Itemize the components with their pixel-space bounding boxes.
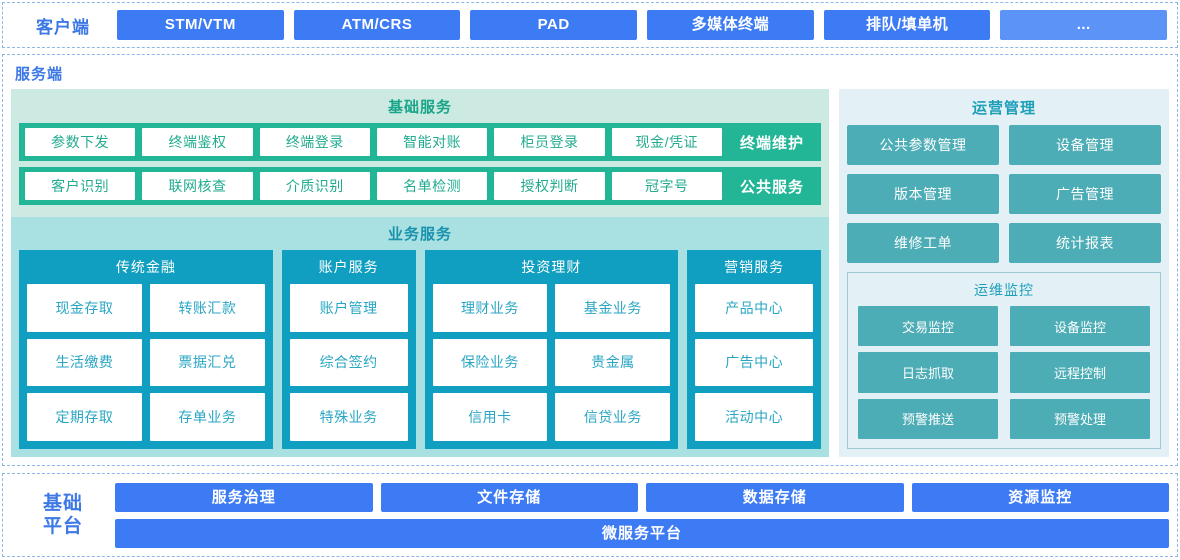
business-chip-3-3[interactable]: 保险业务	[433, 339, 548, 387]
monitor-button-2[interactable]: 设备监控	[1010, 306, 1150, 346]
business-column-3: 投资理财理财业务基金业务保险业务贵金属信用卡信贷业务	[425, 250, 679, 449]
business-chip-3-2[interactable]: 基金业务	[555, 284, 670, 332]
basic-service-band-1: 参数下发终端鉴权终端登录智能对账柜员登录现金/凭证终端维护	[19, 123, 821, 161]
business-chip-4-2[interactable]: 广告中心	[695, 339, 813, 387]
basic-chip-2-1[interactable]: 客户识别	[25, 172, 135, 200]
business-column-grid-2: 账户管理综合签约特殊业务	[290, 284, 408, 441]
monitor-button-1[interactable]: 交易监控	[858, 306, 998, 346]
business-chip-4-1[interactable]: 产品中心	[695, 284, 813, 332]
business-chip-1-4[interactable]: 票据汇兑	[150, 339, 265, 387]
business-column-title-4: 营销服务	[695, 254, 813, 284]
basic-chip-1-5[interactable]: 柜员登录	[494, 128, 604, 156]
business-column-4: 营销服务产品中心广告中心活动中心	[687, 250, 821, 449]
business-chip-2-2[interactable]: 综合签约	[290, 339, 408, 387]
server-section-title: 服务端	[11, 61, 1169, 89]
operations-button-5[interactable]: 维修工单	[847, 223, 999, 263]
business-column-2: 账户服务账户管理综合签约特殊业务	[282, 250, 416, 449]
basic-chip-1-1[interactable]: 参数下发	[25, 128, 135, 156]
platform-button-1[interactable]: 服务治理	[115, 483, 373, 512]
operations-button-2[interactable]: 设备管理	[1009, 125, 1161, 165]
business-chip-3-6[interactable]: 信贷业务	[555, 393, 670, 441]
operations-button-3[interactable]: 版本管理	[847, 174, 999, 214]
business-column-title-2: 账户服务	[290, 254, 408, 284]
business-services-heading: 业务服务	[19, 219, 821, 250]
client-section: 客户端 STM/VTMATM/CRSPAD多媒体终端排队/填单机...	[2, 2, 1178, 48]
monitor-button-grid: 交易监控设备监控日志抓取远程控制预警推送预警处理	[858, 306, 1150, 439]
client-button-2[interactable]: ATM/CRS	[294, 10, 461, 40]
platform-section: 基础 平台 服务治理文件存储数据存储资源监控 微服务平台	[2, 473, 1178, 557]
platform-title-line-2: 平台	[11, 515, 115, 538]
basic-band-tag-1: 终端维护	[729, 132, 815, 153]
basic-chip-1-4[interactable]: 智能对账	[377, 128, 487, 156]
client-section-title: 客户端	[9, 13, 117, 38]
monitor-heading: 运维监控	[858, 277, 1150, 306]
business-column-1: 传统金融现金存取转账汇款生活缴费票据汇兑定期存取存单业务	[19, 250, 273, 449]
client-button-5[interactable]: 排队/填单机	[824, 10, 991, 40]
business-chip-1-6[interactable]: 存单业务	[150, 393, 265, 441]
basic-services-heading: 基础服务	[19, 93, 821, 123]
platform-button-2[interactable]: 文件存储	[381, 483, 639, 512]
business-column-title-3: 投资理财	[433, 254, 671, 284]
architecture-diagram: 客户端 STM/VTMATM/CRSPAD多媒体终端排队/填单机... 服务端 …	[0, 0, 1180, 560]
operations-button-4[interactable]: 广告管理	[1009, 174, 1161, 214]
business-column-grid-1: 现金存取转账汇款生活缴费票据汇兑定期存取存单业务	[27, 284, 265, 441]
client-button-3[interactable]: PAD	[470, 10, 637, 40]
monitor-button-5[interactable]: 预警推送	[858, 399, 998, 439]
business-chip-2-3[interactable]: 特殊业务	[290, 393, 408, 441]
client-button-6[interactable]: ...	[1000, 10, 1167, 40]
platform-button-3[interactable]: 数据存储	[646, 483, 904, 512]
basic-chip-2-3[interactable]: 介质识别	[260, 172, 370, 200]
operations-management-panel: 运营管理 公共参数管理设备管理版本管理广告管理维修工单统计报表 运维监控 交易监…	[839, 89, 1169, 457]
business-chip-4-3[interactable]: 活动中心	[695, 393, 813, 441]
monitor-button-3[interactable]: 日志抓取	[858, 352, 998, 392]
basic-chip-2-6[interactable]: 冠字号	[612, 172, 722, 200]
basic-chip-1-3[interactable]: 终端登录	[260, 128, 370, 156]
business-column-title-1: 传统金融	[27, 254, 265, 284]
client-button-4[interactable]: 多媒体终端	[647, 10, 814, 40]
server-body: 基础服务 参数下发终端鉴权终端登录智能对账柜员登录现金/凭证终端维护客户识别联网…	[11, 89, 1169, 457]
operations-heading: 运营管理	[847, 93, 1161, 125]
client-button-1[interactable]: STM/VTM	[117, 10, 284, 40]
monitor-box: 运维监控 交易监控设备监控日志抓取远程控制预警推送预警处理	[847, 272, 1161, 449]
services-column: 基础服务 参数下发终端鉴权终端登录智能对账柜员登录现金/凭证终端维护客户识别联网…	[11, 89, 829, 457]
operations-button-1[interactable]: 公共参数管理	[847, 125, 999, 165]
server-section: 服务端 基础服务 参数下发终端鉴权终端登录智能对账柜员登录现金/凭证终端维护客户…	[2, 54, 1178, 466]
business-chip-1-5[interactable]: 定期存取	[27, 393, 142, 441]
operations-button-grid: 公共参数管理设备管理版本管理广告管理维修工单统计报表	[847, 125, 1161, 263]
monitor-button-4[interactable]: 远程控制	[1010, 352, 1150, 392]
platform-title-line-1: 基础	[11, 492, 115, 515]
platform-content: 服务治理文件存储数据存储资源监控 微服务平台	[115, 480, 1169, 550]
basic-chip-2-4[interactable]: 名单检测	[377, 172, 487, 200]
basic-chip-1-2[interactable]: 终端鉴权	[142, 128, 252, 156]
business-services-block: 业务服务 传统金融现金存取转账汇款生活缴费票据汇兑定期存取存单业务账户服务账户管…	[11, 217, 829, 457]
business-services-columns: 传统金融现金存取转账汇款生活缴费票据汇兑定期存取存单业务账户服务账户管理综合签约…	[19, 250, 821, 449]
platform-button-4[interactable]: 资源监控	[912, 483, 1170, 512]
basic-services-bands: 参数下发终端鉴权终端登录智能对账柜员登录现金/凭证终端维护客户识别联网核查介质识…	[19, 123, 821, 205]
operations-button-6[interactable]: 统计报表	[1009, 223, 1161, 263]
business-chip-1-3[interactable]: 生活缴费	[27, 339, 142, 387]
basic-service-band-2: 客户识别联网核查介质识别名单检测授权判断冠字号公共服务	[19, 167, 821, 205]
business-chip-3-1[interactable]: 理财业务	[433, 284, 548, 332]
business-chip-3-5[interactable]: 信用卡	[433, 393, 548, 441]
basic-chip-2-2[interactable]: 联网核查	[142, 172, 252, 200]
business-column-grid-4: 产品中心广告中心活动中心	[695, 284, 813, 441]
business-chip-3-4[interactable]: 贵金属	[555, 339, 670, 387]
basic-chip-1-6[interactable]: 现金/凭证	[612, 128, 722, 156]
business-chip-1-1[interactable]: 现金存取	[27, 284, 142, 332]
business-chip-2-1[interactable]: 账户管理	[290, 284, 408, 332]
business-chip-1-2[interactable]: 转账汇款	[150, 284, 265, 332]
business-column-grid-3: 理财业务基金业务保险业务贵金属信用卡信贷业务	[433, 284, 671, 441]
basic-chip-2-5[interactable]: 授权判断	[494, 172, 604, 200]
basic-band-tag-2: 公共服务	[729, 176, 815, 197]
client-button-row: STM/VTMATM/CRSPAD多媒体终端排队/填单机...	[117, 10, 1171, 40]
monitor-button-6[interactable]: 预警处理	[1010, 399, 1150, 439]
basic-services-block: 基础服务 参数下发终端鉴权终端登录智能对账柜员登录现金/凭证终端维护客户识别联网…	[11, 89, 829, 211]
platform-section-title: 基础 平台	[11, 492, 115, 538]
platform-button-row: 服务治理文件存储数据存储资源监控	[115, 483, 1169, 512]
platform-microservice-button[interactable]: 微服务平台	[115, 519, 1169, 548]
